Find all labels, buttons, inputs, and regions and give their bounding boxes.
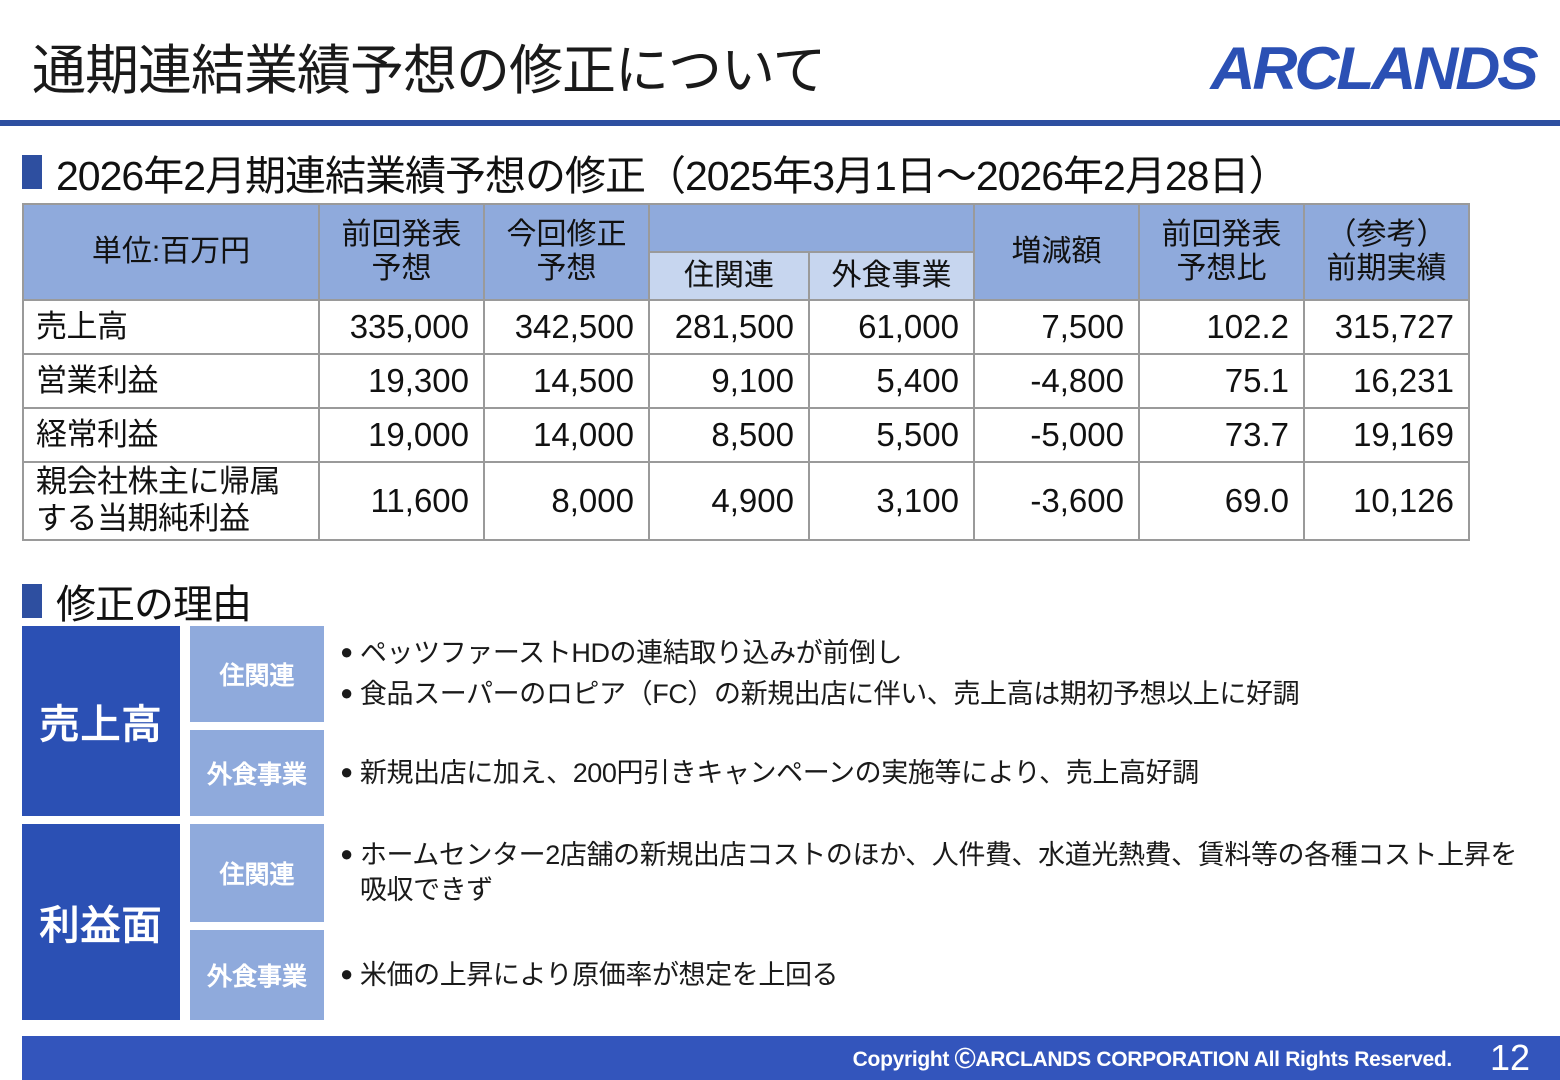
cell-net-sales-previous: 335,000 <box>319 300 484 354</box>
square-bullet-icon <box>22 155 42 189</box>
table-header-segment-group <box>649 204 974 252</box>
cell-operating-income-revised: 14,500 <box>484 354 649 408</box>
bullet-dot-icon: ● <box>340 636 353 668</box>
cell-operating-income-ratio: 75.1 <box>1139 354 1304 408</box>
bullet-dot-icon: ● <box>340 756 353 788</box>
cell-operating-income-housing: 9,100 <box>649 354 809 408</box>
slide-footer: Copyright ⒸARCLANDS CORPORATION All Righ… <box>22 1036 1560 1080</box>
table-header-change-amount: 増減額 <box>974 204 1139 300</box>
table-header-vs-previous: 前回発表予想比 <box>1139 204 1304 300</box>
table-row: 売上高 335,000 342,500 281,500 61,000 7,500… <box>23 300 1469 354</box>
table-header-revised-forecast: 今回修正予想 <box>484 204 649 300</box>
cell-net-sales-ratio: 102.2 <box>1139 300 1304 354</box>
cell-net-income-food: 3,100 <box>809 462 974 540</box>
cell-operating-income-food: 5,400 <box>809 354 974 408</box>
segment-box-profit-housing: 住関連 <box>190 824 324 922</box>
header-divider <box>0 120 1560 126</box>
square-bullet-icon <box>22 584 42 618</box>
bullet-dot-icon: ● <box>340 958 353 990</box>
bullet-item: ● ペッツファーストHDの連結取り込みが前倒し <box>340 636 1538 671</box>
bullet-item: ● 新規出店に加え、200円引きキャンペーンの実施等により、売上高好調 <box>340 756 1538 791</box>
bullet-dot-icon: ● <box>340 677 353 709</box>
page-title: 通期連結業績予想の修正について <box>32 26 825 105</box>
table-row: 親会社株主に帰属する当期純利益 11,600 8,000 4,900 3,100… <box>23 462 1469 540</box>
reason-subrow-profit-food: 外食事業 ● 米価の上昇により原価率が想定を上回る <box>190 930 1538 1020</box>
table-row: 経常利益 19,000 14,000 8,500 5,500 -5,000 73… <box>23 408 1469 462</box>
bullet-text: ホームセンター2店舗の新規出店コストのほか、人件費、水道光熱費、賃料等の各種コス… <box>360 838 1538 907</box>
cell-net-sales-food: 61,000 <box>809 300 974 354</box>
bullet-list-revenue-food: ● 新規出店に加え、200円引きキャンペーンの実施等により、売上高好調 <box>324 730 1538 816</box>
table-header-row-1: 単位:百万円 前回発表予想 今回修正予想 増減額 前回発表予想比 （参考）前期実… <box>23 204 1469 252</box>
reason-area: 売上高 住関連 ● ペッツファーストHDの連結取り込みが前倒し ● 食品スーパー… <box>22 626 1538 1028</box>
bullet-dot-icon: ● <box>340 838 353 870</box>
cell-ordinary-income-reference: 19,169 <box>1304 408 1469 462</box>
cell-net-sales-change: 7,500 <box>974 300 1139 354</box>
row-label-net-income: 親会社株主に帰属する当期純利益 <box>23 462 319 540</box>
forecast-table: 単位:百万円 前回発表予想 今回修正予想 増減額 前回発表予想比 （参考）前期実… <box>22 203 1470 541</box>
table-header-reference-prior: （参考）前期実績 <box>1304 204 1469 300</box>
bullet-text: 米価の上昇により原価率が想定を上回る <box>360 958 1538 993</box>
reason-subrow-profit-housing: 住関連 ● ホームセンター2店舗の新規出店コストのほか、人件費、水道光熱費、賃料… <box>190 824 1538 922</box>
segment-box-revenue-food: 外食事業 <box>190 730 324 816</box>
bullet-list-profit-housing: ● ホームセンター2店舗の新規出店コストのほか、人件費、水道光熱費、賃料等の各種… <box>324 824 1538 922</box>
cell-net-income-reference: 10,126 <box>1304 462 1469 540</box>
bullet-item: ● 食品スーパーのロピア（FC）の新規出店に伴い、売上高は期初予想以上に好調 <box>340 677 1538 712</box>
row-label-operating-income: 営業利益 <box>23 354 319 408</box>
cell-ordinary-income-ratio: 73.7 <box>1139 408 1304 462</box>
table-header-previous-forecast: 前回発表予想 <box>319 204 484 300</box>
cell-ordinary-income-food: 5,500 <box>809 408 974 462</box>
cell-operating-income-change: -4,800 <box>974 354 1139 408</box>
cell-ordinary-income-revised: 14,000 <box>484 408 649 462</box>
bullet-item: ● 米価の上昇により原価率が想定を上回る <box>340 958 1538 993</box>
cell-net-income-previous: 11,600 <box>319 462 484 540</box>
page-number: 12 <box>1490 1040 1530 1076</box>
reason-group-profit: 利益面 住関連 ● ホームセンター2店舗の新規出店コストのほか、人件費、水道光熱… <box>22 824 1538 1020</box>
cell-operating-income-reference: 16,231 <box>1304 354 1469 408</box>
cell-ordinary-income-previous: 19,000 <box>319 408 484 462</box>
section-heading-forecast: 2026年2月期連結業績予想の修正（2025年3月1日～2026年2月28日） <box>22 142 1288 202</box>
segment-box-revenue-housing: 住関連 <box>190 626 324 722</box>
row-label-ordinary-income: 経常利益 <box>23 408 319 462</box>
slide-header: 通期連結業績予想の修正について ARCLANDS <box>0 0 1560 124</box>
cell-net-sales-revised: 342,500 <box>484 300 649 354</box>
reason-group-revenue: 売上高 住関連 ● ペッツファーストHDの連結取り込みが前倒し ● 食品スーパー… <box>22 626 1538 816</box>
table-header-unit: 単位:百万円 <box>23 204 319 300</box>
bullet-list-revenue-housing: ● ペッツファーストHDの連結取り込みが前倒し ● 食品スーパーのロピア（FC）… <box>324 626 1538 722</box>
bullet-list-profit-food: ● 米価の上昇により原価率が想定を上回る <box>324 930 1538 1020</box>
cell-net-sales-housing: 281,500 <box>649 300 809 354</box>
bullet-text: ペッツファーストHDの連結取り込みが前倒し <box>360 636 1538 671</box>
reason-subrow-revenue-food: 外食事業 ● 新規出店に加え、200円引きキャンペーンの実施等により、売上高好調 <box>190 730 1538 816</box>
table-row: 営業利益 19,300 14,500 9,100 5,400 -4,800 75… <box>23 354 1469 408</box>
table-header-segment-food: 外食事業 <box>809 252 974 300</box>
arclands-logo: ARCLANDS <box>1211 34 1536 103</box>
cell-net-income-housing: 4,900 <box>649 462 809 540</box>
reason-subrows-profit: 住関連 ● ホームセンター2店舗の新規出店コストのほか、人件費、水道光熱費、賃料… <box>190 824 1538 1020</box>
table-header-segment-housing: 住関連 <box>649 252 809 300</box>
bullet-text: 食品スーパーのロピア（FC）の新規出店に伴い、売上高は期初予想以上に好調 <box>360 677 1538 712</box>
reason-subrows-revenue: 住関連 ● ペッツファーストHDの連結取り込みが前倒し ● 食品スーパーのロピア… <box>190 626 1538 816</box>
category-box-revenue: 売上高 <box>22 626 180 816</box>
cell-net-income-ratio: 69.0 <box>1139 462 1304 540</box>
copyright-text: Copyright ⒸARCLANDS CORPORATION All Righ… <box>853 1043 1452 1073</box>
bullet-text: 新規出店に加え、200円引きキャンペーンの実施等により、売上高好調 <box>360 756 1538 791</box>
segment-box-profit-food: 外食事業 <box>190 930 324 1020</box>
cell-net-income-revised: 8,000 <box>484 462 649 540</box>
category-box-profit: 利益面 <box>22 824 180 1020</box>
cell-operating-income-previous: 19,300 <box>319 354 484 408</box>
bullet-item: ● ホームセンター2店舗の新規出店コストのほか、人件費、水道光熱費、賃料等の各種… <box>340 838 1538 907</box>
cell-net-sales-reference: 315,727 <box>1304 300 1469 354</box>
cell-net-income-change: -3,600 <box>974 462 1139 540</box>
row-label-net-sales: 売上高 <box>23 300 319 354</box>
cell-ordinary-income-housing: 8,500 <box>649 408 809 462</box>
section-heading-reason-label: 修正の理由 <box>56 572 251 630</box>
section-heading-reason: 修正の理由 <box>22 572 251 630</box>
section-heading-forecast-label: 2026年2月期連結業績予想の修正（2025年3月1日～2026年2月28日） <box>56 142 1288 202</box>
reason-subrow-revenue-housing: 住関連 ● ペッツファーストHDの連結取り込みが前倒し ● 食品スーパーのロピア… <box>190 626 1538 722</box>
cell-ordinary-income-change: -5,000 <box>974 408 1139 462</box>
